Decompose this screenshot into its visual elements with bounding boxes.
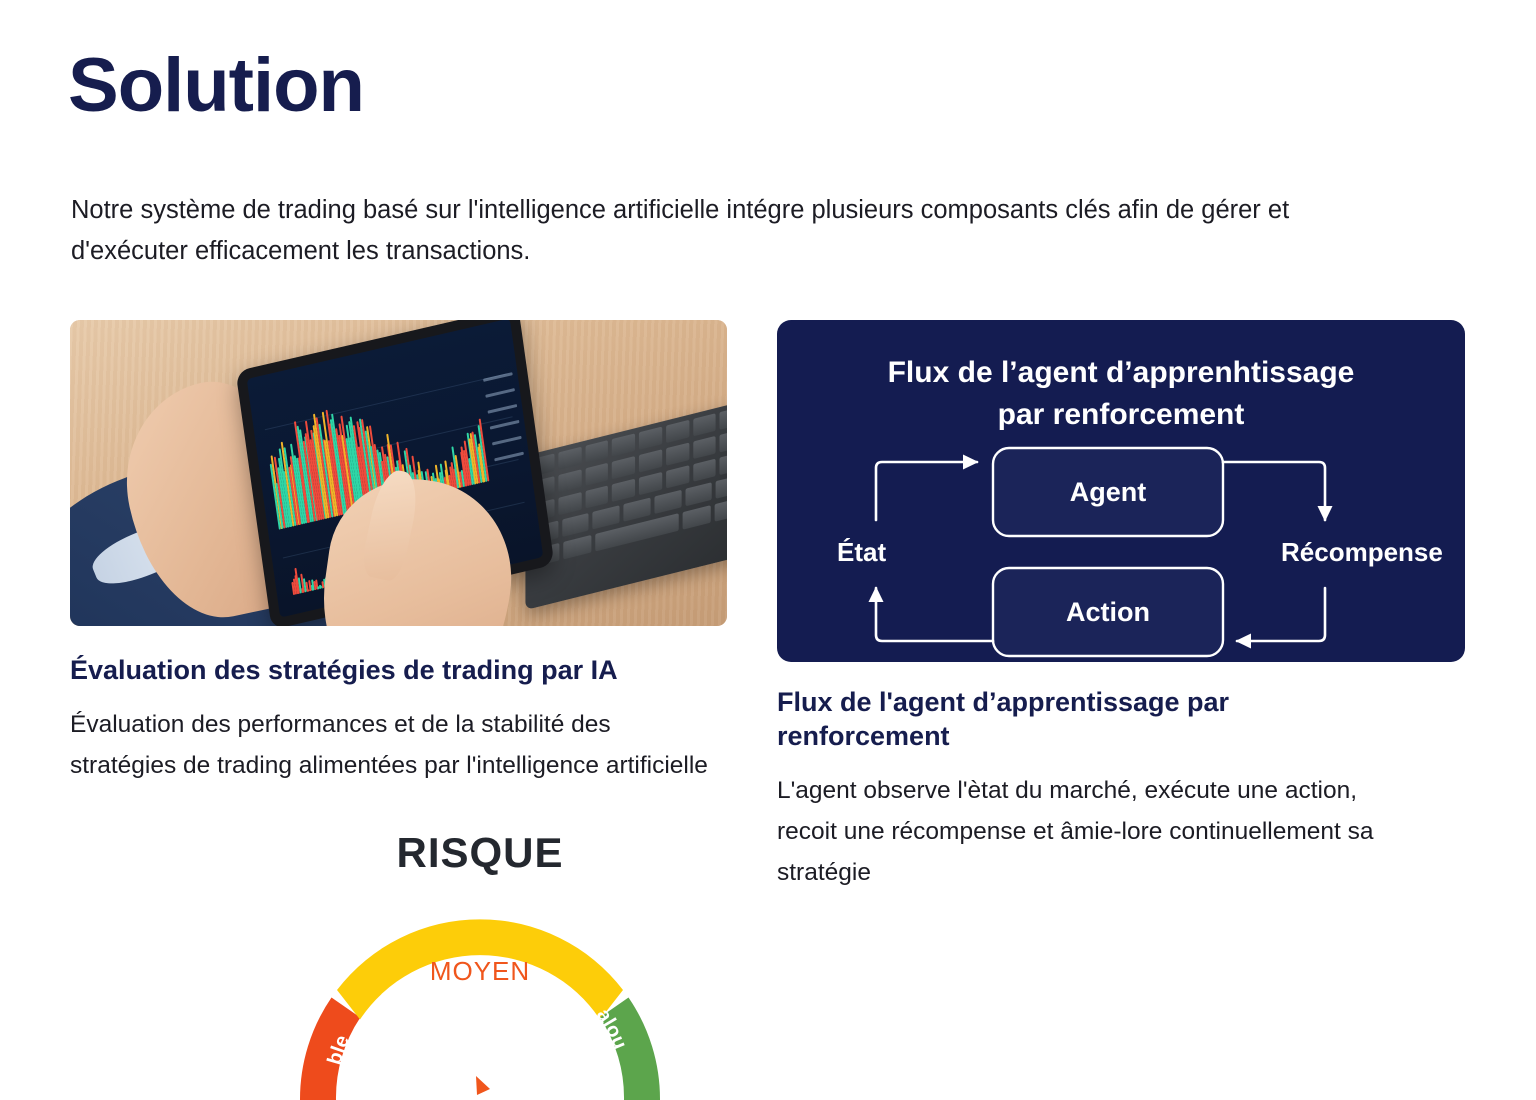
left-card-title: Évaluation des stratégies de trading par…: [70, 654, 730, 688]
diagram-arrow-agent-to-recompense: [1223, 462, 1325, 520]
chart-menu-lines: [483, 372, 526, 474]
risk-gauge-arc: ble alou: [290, 900, 670, 1100]
diagram-arrow-action-to-etat: [876, 588, 993, 641]
left-card-body: Évaluation des performances et de la sta…: [70, 704, 710, 786]
right-card-body: L'agent observe l'ètat du marché, exécut…: [777, 770, 1417, 893]
page-title: Solution: [68, 48, 364, 124]
risk-level-text: MOYEN: [280, 956, 680, 987]
diagram-title: Flux de l’agent d’apprenhtissage par ren…: [777, 352, 1465, 436]
diagram-edge-label-etat: État: [837, 537, 886, 567]
diagram-title-line2: par renforcement: [777, 394, 1465, 436]
diagram-arrow-recompense-to-action: [1237, 588, 1325, 641]
right-column: Flux de l’agent d’apprenhtissage par ren…: [777, 320, 1467, 893]
intro-paragraph: Notre système de trading basé sur l'inte…: [71, 190, 1401, 272]
trading-tablet-photo: [70, 320, 727, 626]
diagram-title-line1: Flux de l’agent d’apprenhtissage: [777, 352, 1465, 394]
diagram-node-agent-label: Agent: [1070, 477, 1147, 507]
risk-gauge: RISQUE ble alou MOYEN: [280, 832, 680, 1032]
diagram-graph: Agent Action État Récompense: [777, 438, 1465, 658]
left-column: Évaluation des stratégies de trading par…: [70, 320, 730, 786]
right-card-title: Flux de l'agent d’apprentissage par renf…: [777, 686, 1377, 754]
diagram-edge-label-recompense: Récompense: [1281, 537, 1443, 567]
diagram-arrow-etat-to-agent: [876, 462, 977, 520]
reinforcement-learning-diagram: Flux de l’agent d’apprenhtissage par ren…: [777, 320, 1465, 662]
diagram-node-action-label: Action: [1066, 597, 1150, 627]
risk-gauge-title: RISQUE: [280, 832, 680, 874]
gauge-needle: [476, 1076, 490, 1095]
